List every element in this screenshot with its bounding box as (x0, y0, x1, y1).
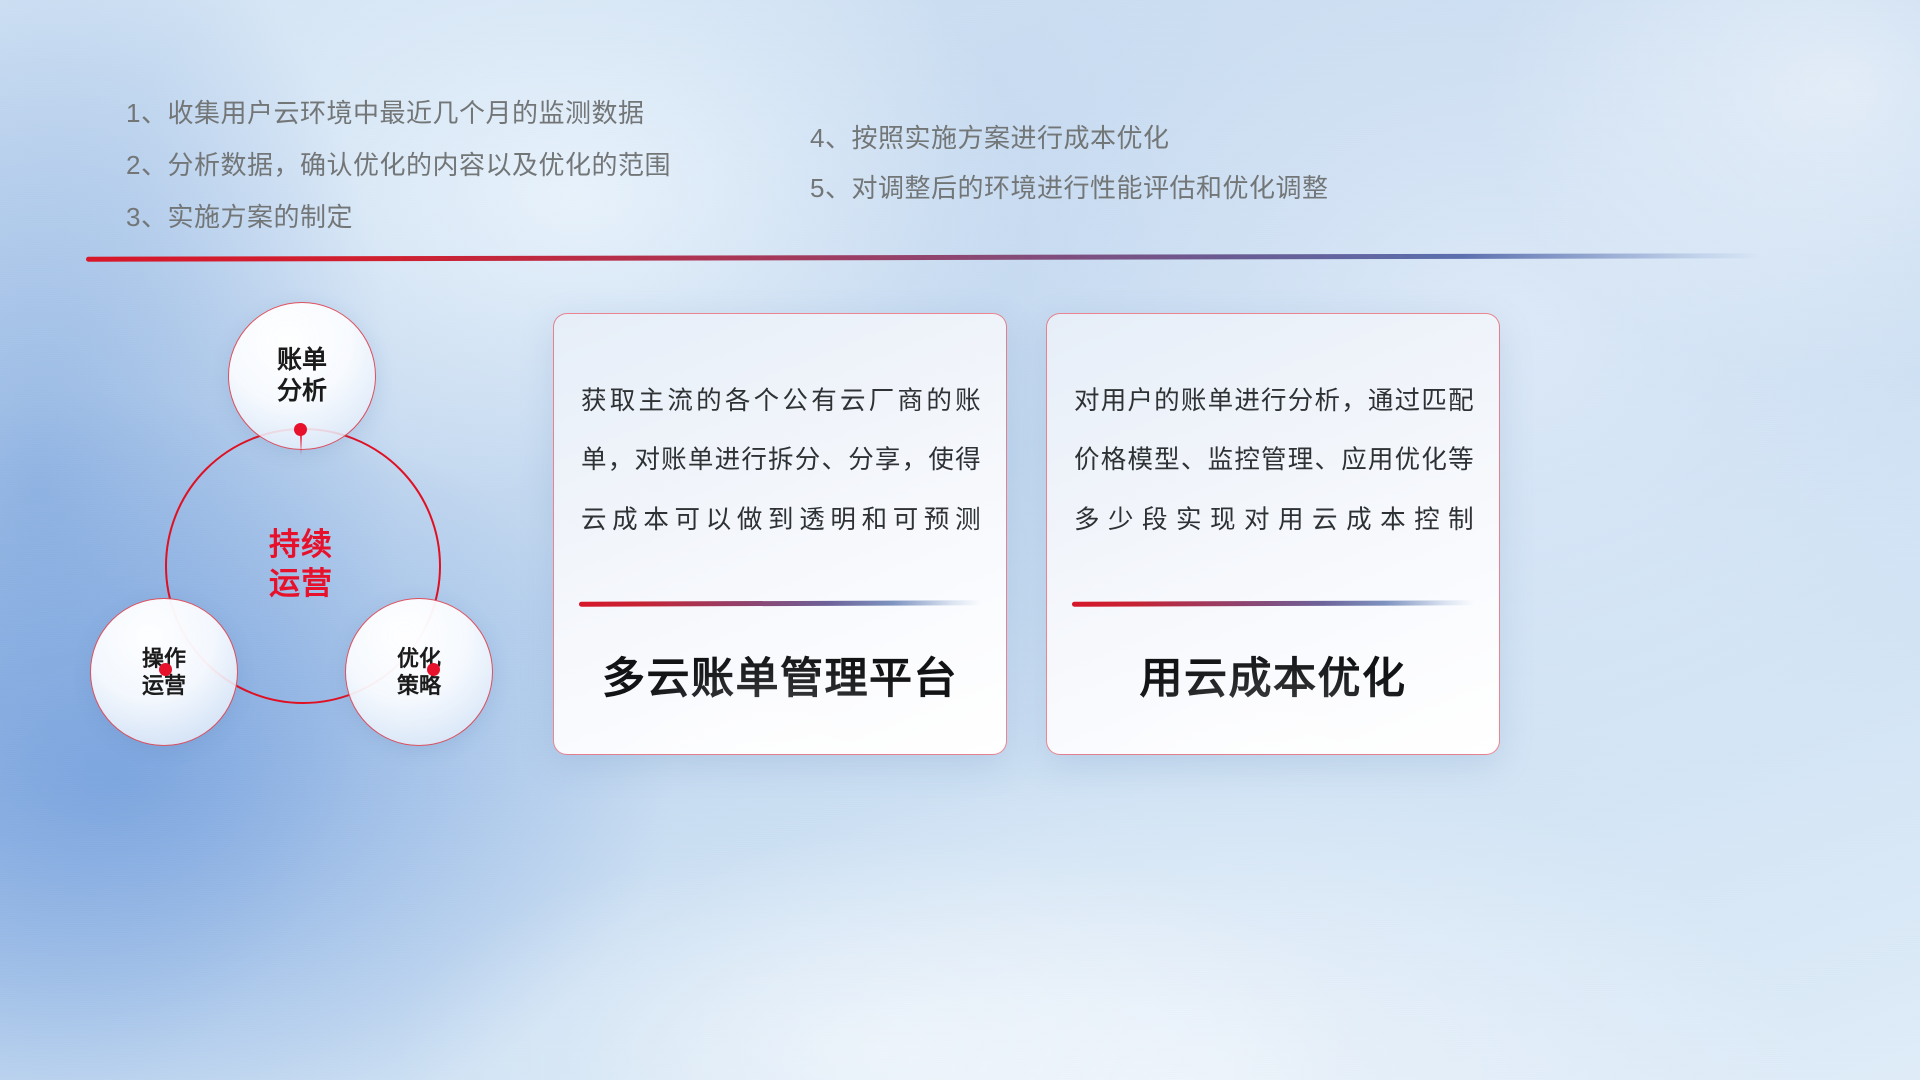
step-item-5: 5、对调整后的环境进行性能评估和优化调整 (810, 175, 1328, 201)
card-multi-cloud-bill-platform[interactable]: 获取主流的各个公有云厂商的账单，对账单进行拆分、分享，使得云成本可以做到透明和可… (553, 313, 1007, 755)
bubble-bill-analysis-line2: 分析 (277, 376, 327, 407)
card-right-body: 对用户的账单进行分析，通过匹配价格模型、监控管理、应用优化等多少段实现对用云成本… (1074, 372, 1474, 550)
continuous-operation-diagram: 持续 运营 账单 分析 操作 运营 优化 策略 (60, 280, 560, 780)
card-left-body: 获取主流的各个公有云厂商的账单，对账单进行拆分、分享，使得云成本可以做到透明和可… (581, 372, 981, 550)
step-item-2: 2、分析数据，确认优化的内容以及优化的范围 (126, 152, 671, 178)
card-cloud-cost-optimization[interactable]: 对用户的账单进行分析，通过匹配价格模型、监控管理、应用优化等多少段实现对用云成本… (1046, 313, 1500, 755)
steps-list-right: 4、按照实施方案进行成本优化 5、对调整后的环境进行性能评估和优化调整 (810, 125, 1328, 225)
bubble-optimization-strategy-line2: 策略 (397, 672, 441, 699)
card-left-title: 多云账单管理平台 (554, 644, 1006, 706)
node-dot-top (294, 423, 307, 436)
step-item-4: 4、按照实施方案进行成本优化 (810, 125, 1328, 151)
card-right-title: 用云成本优化 (1047, 644, 1499, 706)
node-dot-bottom-left (159, 663, 172, 676)
steps-list-left: 1、收集用户云环境中最近几个月的监测数据 2、分析数据，确认优化的内容以及优化的… (126, 100, 671, 256)
step-item-3: 3、实施方案的制定 (126, 204, 671, 230)
bubble-operations-line2: 运营 (142, 672, 186, 699)
card-left-divider (579, 600, 981, 606)
node-dot-bottom-right (427, 663, 440, 676)
bubble-optimization-strategy[interactable]: 优化 策略 (345, 598, 493, 746)
step-item-1: 1、收集用户云环境中最近几个月的监测数据 (126, 100, 671, 126)
card-right-divider (1072, 600, 1474, 606)
connector-stem-top (300, 435, 302, 455)
bubble-bill-analysis-line1: 账单 (277, 345, 327, 376)
